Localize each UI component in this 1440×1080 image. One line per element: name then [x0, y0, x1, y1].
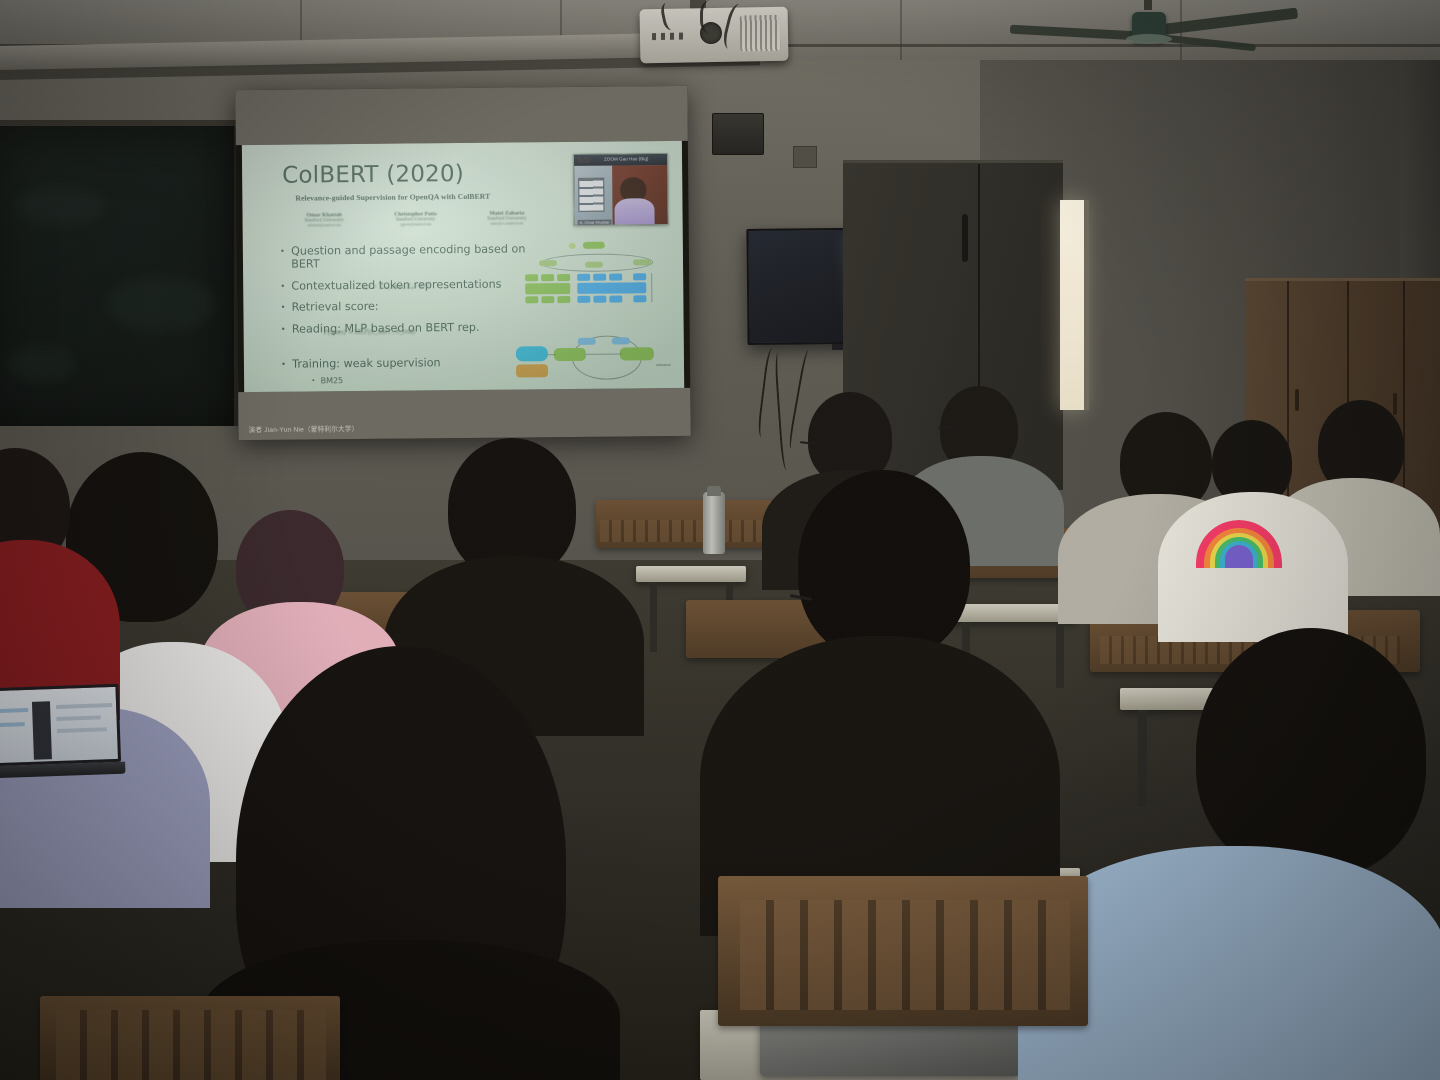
thermos-cap [707, 486, 721, 496]
fan-light [1126, 34, 1172, 44]
diagram-token [593, 274, 606, 281]
person-head [798, 470, 970, 660]
video-window-controls-icon: ⬛ ⬛ [578, 158, 590, 164]
bullet-text: Question and passage encoding based on B… [291, 242, 531, 270]
chalk-smudge [6, 346, 76, 382]
diagram-token [525, 274, 538, 281]
reading-mlp-formula: P(span) ∝ MLP(h_start , h_end) [324, 327, 416, 336]
bullet-dot-icon: • [282, 322, 285, 335]
laptop-ui-line [56, 703, 112, 709]
slide-authors: Omar Khattab Stanford University okhatta… [291, 210, 541, 227]
author-entry: Omar Khattab Stanford University okhatta… [291, 212, 358, 228]
desk-leg [1138, 710, 1147, 806]
slide-footer: 演者 Jian-Yun Nie（蒙特利尔大学） [249, 423, 359, 434]
slide-title: ColBERT (2020) [282, 161, 464, 189]
diagram-connector [651, 273, 652, 302]
diagram-token [577, 296, 590, 303]
screen-top-band [235, 86, 688, 145]
ceiling-fan [1040, 0, 1250, 64]
video-name-tag: A. Omar Khattab [578, 220, 612, 225]
thermos [703, 492, 725, 554]
cabinet-handle[interactable] [1295, 389, 1299, 411]
diagram-token [541, 274, 554, 281]
desk-leg [1056, 622, 1064, 688]
laptop-ui-line [0, 708, 28, 713]
diagram-token [541, 296, 554, 303]
diagram-node [585, 262, 603, 268]
diagram-token [633, 273, 646, 280]
diagram-encoder-doc [577, 282, 646, 294]
diagram-token [609, 295, 622, 302]
author-email: cgpotts@stanford.edu [382, 222, 449, 227]
colbert-architecture-diagram [521, 241, 674, 310]
laptop-ui-line [57, 727, 107, 733]
weak-supervision-diagram: relevance [516, 323, 677, 385]
projector-cable [700, 0, 726, 34]
diagram-token [593, 296, 606, 303]
bench-slats [740, 900, 1070, 1010]
diagram-node [539, 260, 557, 266]
projection-screen: ColBERT (2020) Relevance-guided Supervis… [235, 86, 690, 440]
bullet-text: Training: weak supervision [292, 356, 441, 370]
diagram-block-tan [516, 364, 548, 377]
video-titlebar-text: ZOOM Gao Hao (Big) [604, 156, 648, 161]
diagram-block-green [554, 348, 586, 361]
diagram-node [583, 242, 605, 249]
lecture-hall-photo: ColBERT (2020) Relevance-guided Supervis… [0, 0, 1440, 1080]
bullet-dot-icon: • [281, 279, 284, 292]
laptop[interactable] [0, 684, 122, 780]
laptop-ui-line [0, 722, 25, 727]
diagram-token [609, 273, 622, 280]
window-pane [578, 178, 604, 212]
diagram-token [557, 296, 570, 303]
presentation-slide: ColBERT (2020) Relevance-guided Supervis… [242, 141, 684, 392]
blackboard [0, 126, 238, 426]
slide-subtitle: Relevance-guided Supervision for OpenQA … [295, 192, 490, 203]
diagram-token [577, 274, 590, 281]
bullet-dot-icon: • [281, 301, 284, 314]
chalk-smudge [106, 276, 216, 331]
diagram-node [569, 243, 576, 249]
bullet-dot-icon: • [282, 357, 285, 370]
diagram-node [612, 337, 630, 344]
diagram-token [557, 274, 570, 281]
author-email: matei@cs.stanford.edu [473, 221, 540, 226]
video-frame: A. Omar Khattab [574, 165, 669, 226]
video-call-thumbnail: ⬛ ⬛ ZOOM Gao Hao (Big) A. Omar Khattab [573, 153, 669, 226]
desk [946, 604, 1076, 622]
author-email: okhattab@stanford.edu [291, 223, 358, 228]
diagram-encoder-query [525, 283, 570, 294]
rainbow-band [1225, 545, 1253, 568]
bench-slats [56, 1010, 326, 1080]
diagram-caption: relevance [656, 363, 671, 367]
person-head [1196, 628, 1426, 878]
bullet-dot-icon: • [281, 245, 284, 271]
wall-outlet-plate [793, 146, 817, 168]
door-handle[interactable] [962, 214, 968, 262]
cabinet-handle[interactable] [1393, 393, 1397, 415]
slide-bullet: • Question and passage encoding based on… [281, 242, 531, 270]
author-entry: Christopher Potts Stanford University cg… [382, 211, 449, 227]
diagram-token [633, 295, 646, 302]
diagram-node [633, 259, 651, 265]
slide-bullet-list: • Question and passage encoding based on… [281, 242, 533, 392]
diagram-token [525, 296, 538, 303]
slide-sub-bullet: • BM25 [312, 374, 532, 386]
wall-speaker [712, 113, 764, 155]
diagram-node [578, 338, 596, 345]
chalk-smudge [16, 186, 106, 226]
light-strip [1060, 200, 1084, 410]
desk-leg [650, 582, 657, 652]
slide-bullet: • Retrieval score: [281, 298, 531, 313]
laptop-screen [0, 684, 121, 766]
author-entry: Matei Zaharia Stanford University matei@… [473, 210, 540, 226]
slide-bullet: • Training: weak supervision [282, 355, 532, 370]
bullet-text: Retrieval score: [292, 300, 379, 314]
diagram-block-green [620, 347, 654, 360]
fan-rod [1144, 0, 1152, 10]
retrieval-score-formula: Sₐ,ᵈ = Σᵢ₌₁ maxⱼ Eₐᵢ · Eᵈⱼᵀ [361, 282, 430, 291]
diagram-block-cyan [516, 346, 548, 361]
laptop-sidebar [32, 701, 52, 760]
video-titlebar: ⬛ ⬛ ZOOM Gao Hao (Big) [574, 154, 669, 166]
projector-buttons [652, 32, 686, 40]
light-strip-edge [1084, 200, 1089, 410]
slide-sub-bullet-list: • BM25 • ColBERT0 for ColBERT1 [312, 374, 532, 392]
laptop-ui-line [56, 715, 100, 721]
sub-bullet-dot-icon: • [312, 376, 315, 386]
speaker-body [614, 198, 654, 226]
desk [636, 566, 746, 582]
diagram-connector [548, 354, 556, 355]
sub-bullet-text: BM25 [321, 376, 344, 386]
